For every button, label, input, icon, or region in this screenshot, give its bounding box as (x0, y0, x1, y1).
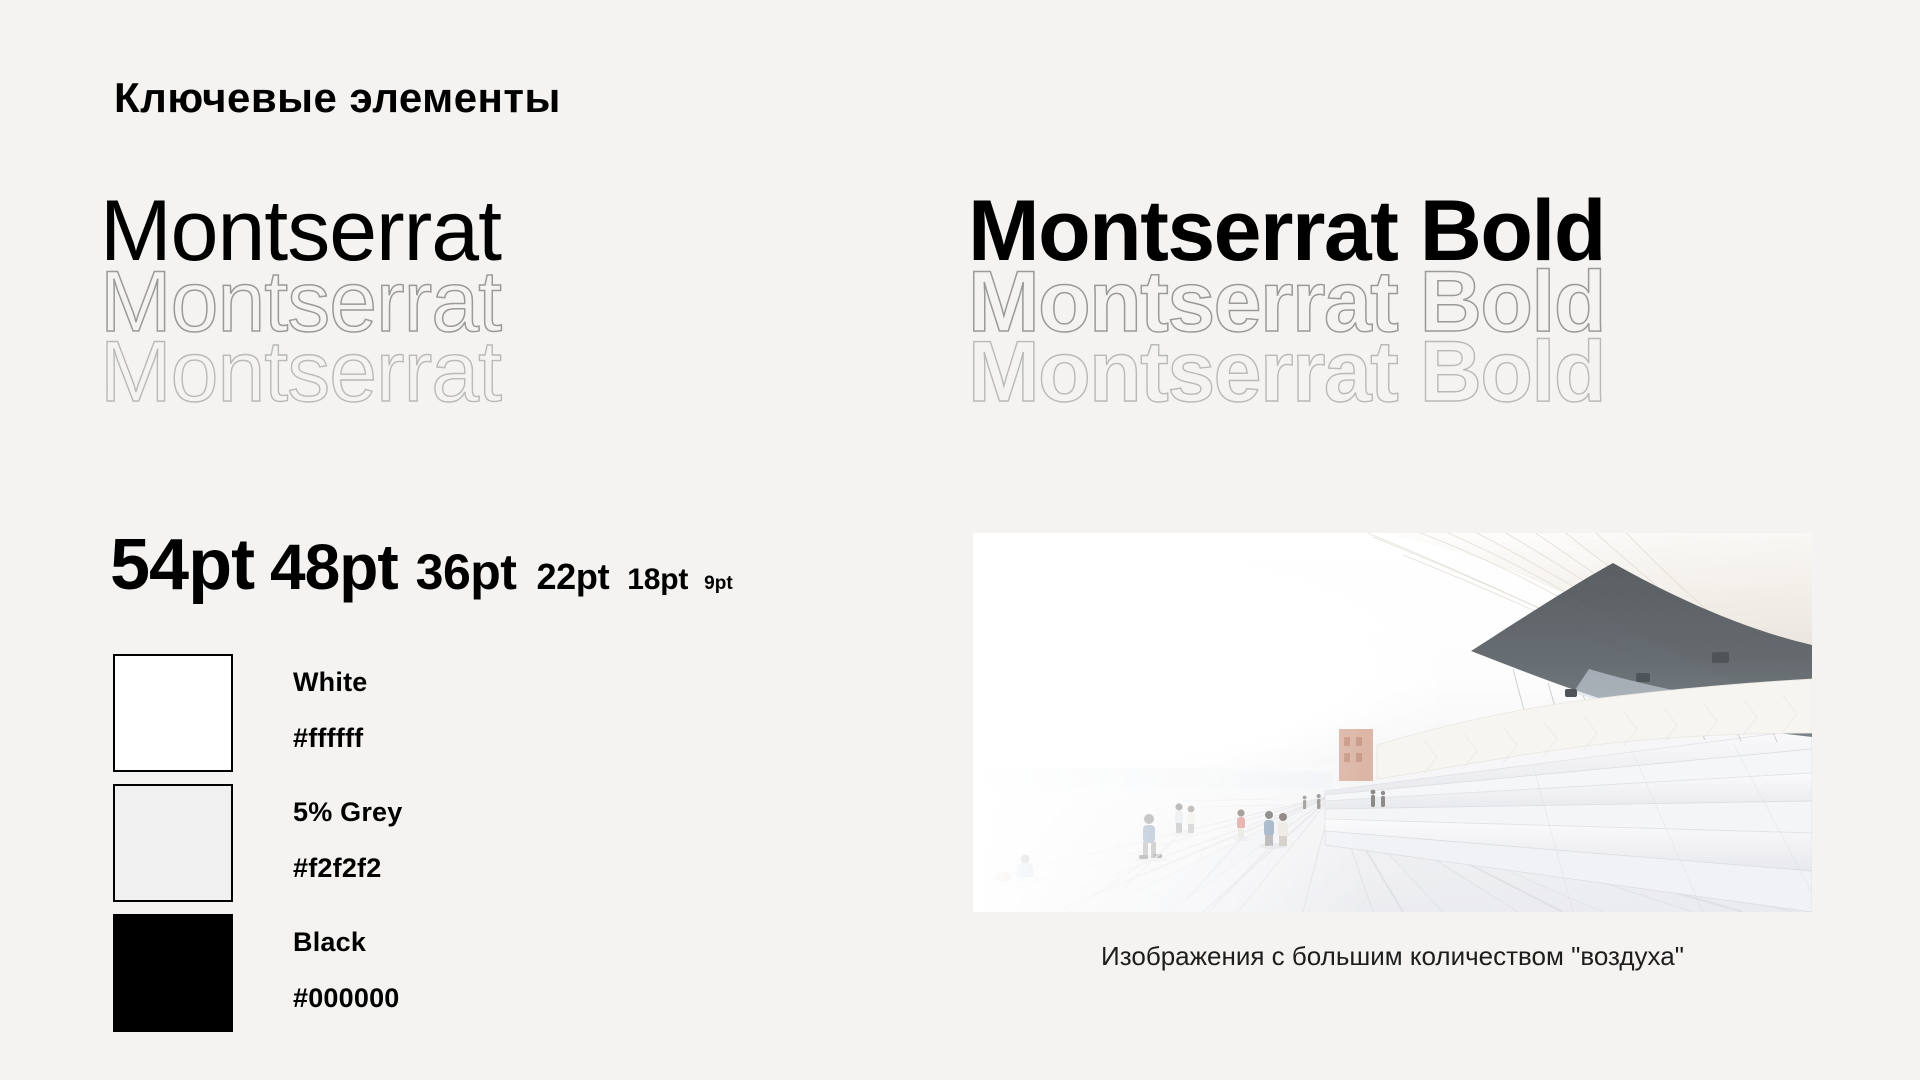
color-hex-grey: #f2f2f2 (293, 854, 402, 884)
size-label-18pt: 18pt (627, 563, 688, 597)
specimen-montserrat-regular: Montserrat Montserrat Montserrat (100, 196, 501, 408)
color-name-white: White (293, 668, 368, 698)
specimen-regular-outline-2: Montserrat (100, 337, 501, 408)
color-hex-white: #ffffff (293, 724, 368, 754)
color-swatch-black (113, 914, 233, 1032)
color-swatch-white (113, 654, 233, 772)
photo-illustration: maat (973, 533, 1812, 912)
color-info-white: White #ffffff (293, 654, 368, 753)
photo-frame: maat (973, 533, 1812, 912)
size-label-36pt: 36pt (416, 543, 517, 601)
photo-caption: Изображения с большим количеством "возду… (973, 940, 1812, 973)
palette-row-white: White #ffffff (113, 654, 402, 772)
color-info-black: Black #000000 (293, 914, 400, 1013)
palette-row-grey: 5% Grey #f2f2f2 (113, 784, 402, 902)
palette-row-black: Black #000000 (113, 914, 402, 1032)
size-label-54pt: 54pt (110, 524, 254, 606)
color-info-grey: 5% Grey #f2f2f2 (293, 784, 402, 883)
color-swatch-grey (113, 784, 233, 902)
type-size-scale: 54pt 48pt 36pt 22pt 18pt 9pt (110, 524, 733, 606)
color-palette: White #ffffff 5% Grey #f2f2f2 Black #000… (113, 654, 402, 1044)
reference-photo: maat (973, 533, 1812, 912)
specimen-bold-outline-2: Montserrat Bold (968, 337, 1605, 408)
size-label-9pt: 9pt (704, 573, 733, 595)
color-hex-black: #000000 (293, 984, 400, 1014)
size-label-22pt: 22pt (536, 556, 609, 598)
color-name-grey: 5% Grey (293, 798, 402, 828)
specimen-montserrat-bold: Montserrat Bold Montserrat Bold Montserr… (968, 196, 1605, 408)
page-title: Ключевые элементы (114, 74, 561, 122)
color-name-black: Black (293, 928, 400, 958)
size-label-48pt: 48pt (270, 530, 398, 604)
